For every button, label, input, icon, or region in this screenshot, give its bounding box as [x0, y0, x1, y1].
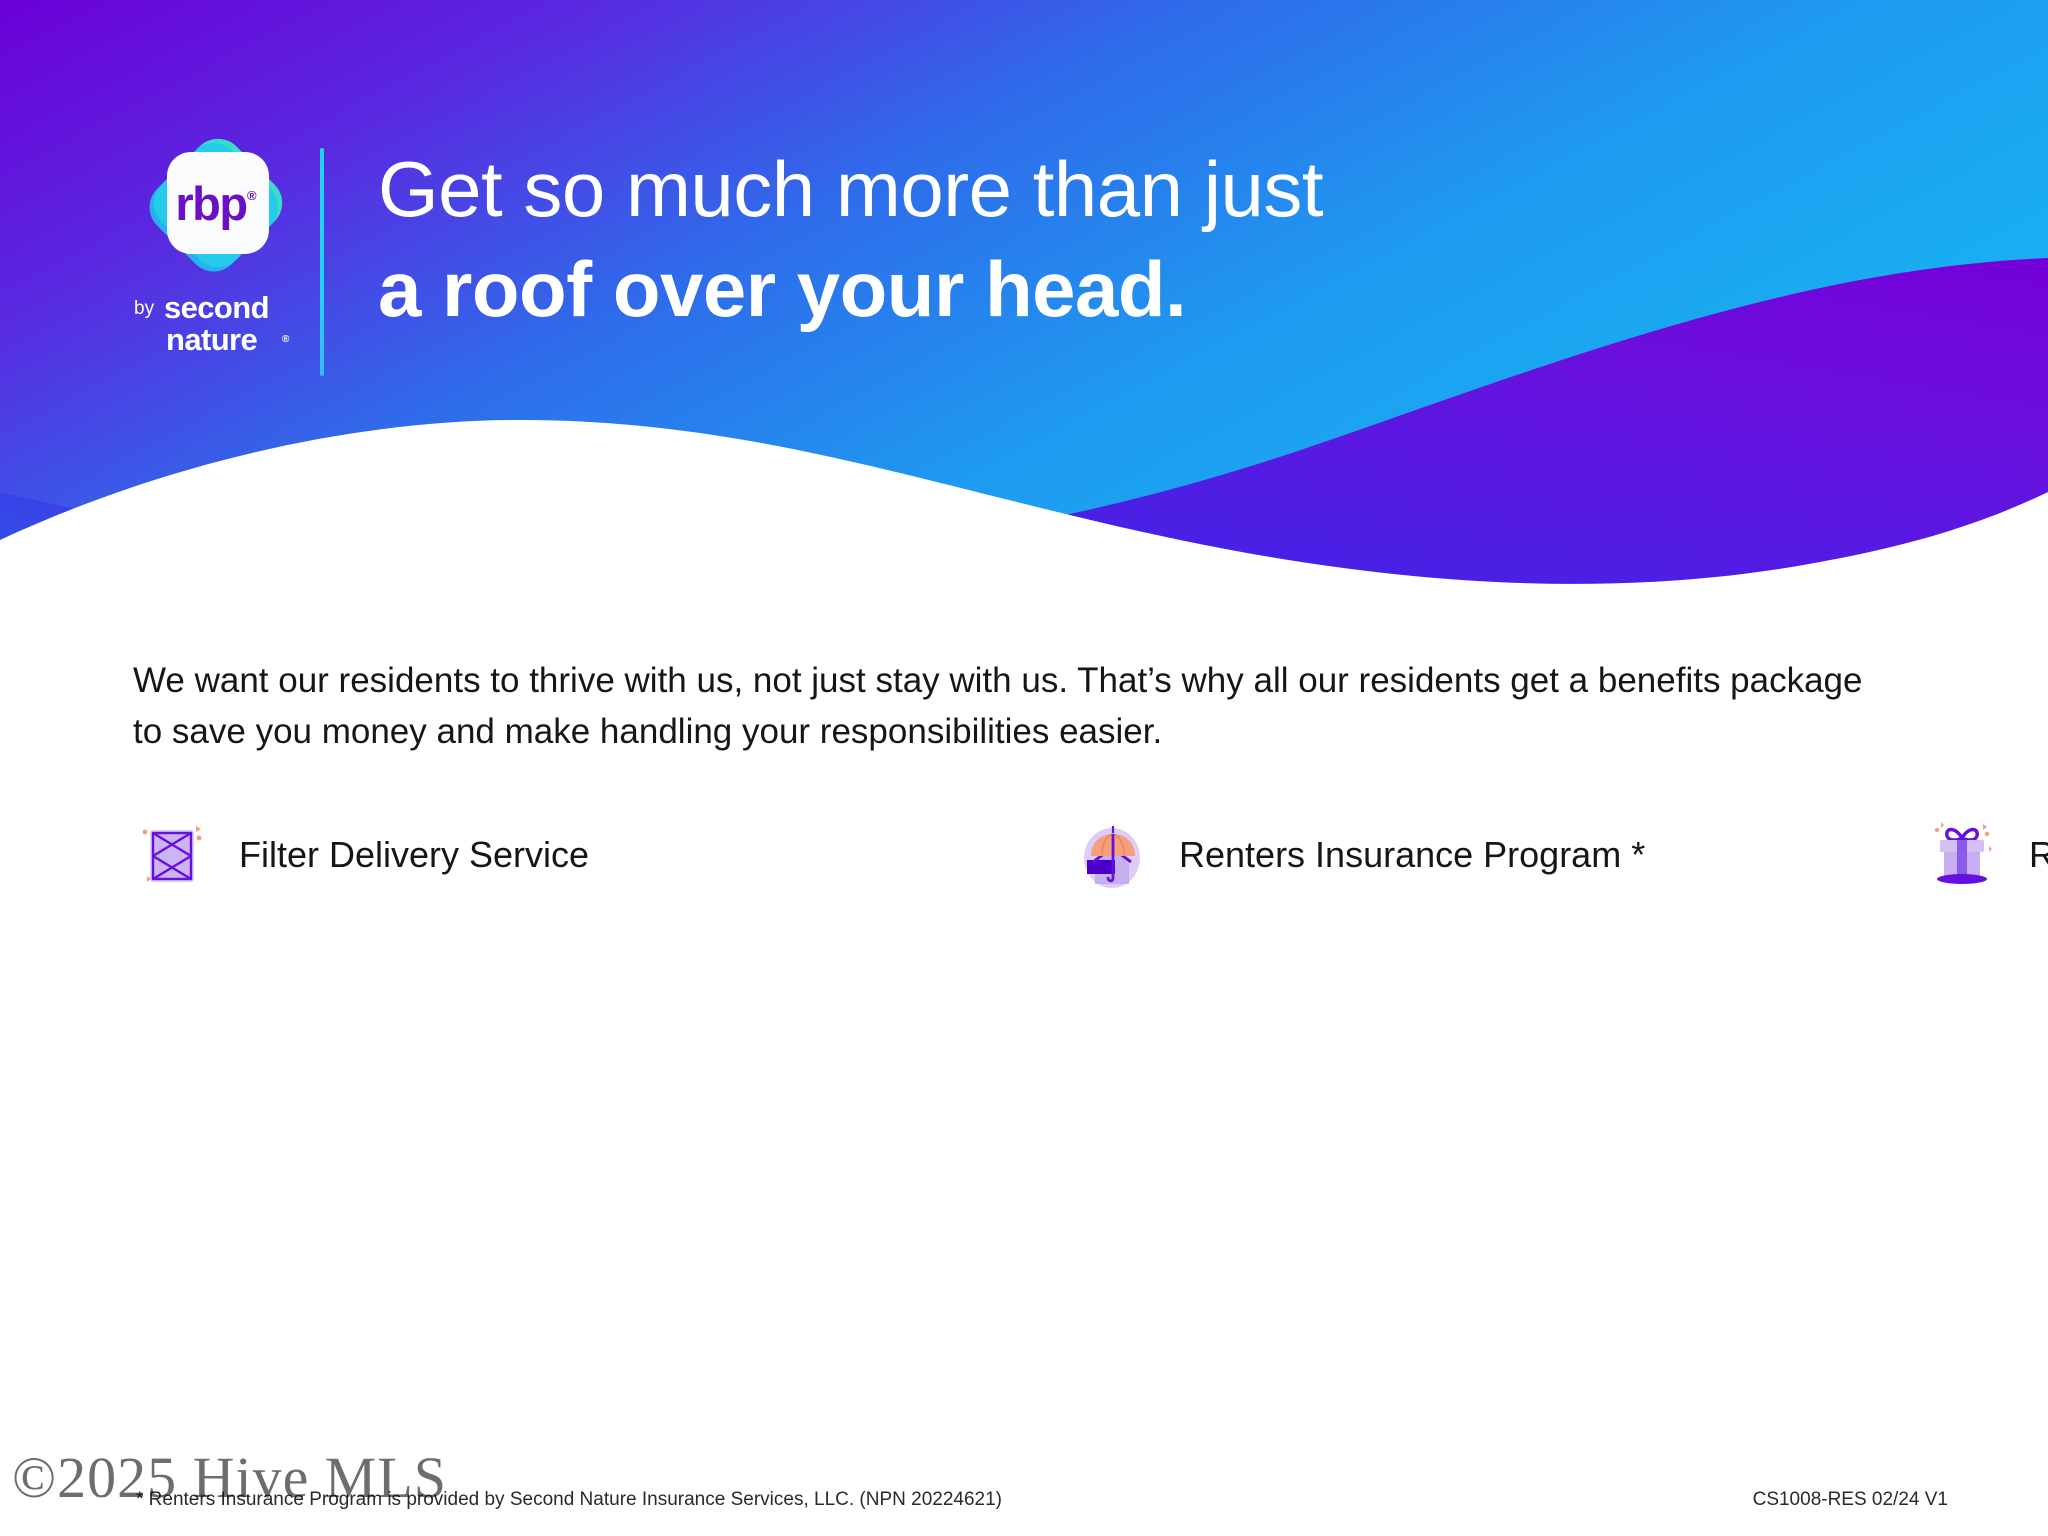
- svg-text:nature: nature: [166, 322, 258, 357]
- benefit-label: Renters Insurance Program *: [1179, 834, 1645, 876]
- benefit-item-renters-insurance-program: Renters Insurance Program *: [1073, 800, 1923, 909]
- intro-paragraph: We want our residents to thrive with us,…: [133, 655, 1893, 757]
- svg-text:second: second: [164, 290, 269, 325]
- page-headline: Get so much more than just a roof over y…: [378, 150, 1558, 329]
- by-second-nature-wordmark: by second nature ®: [128, 288, 308, 362]
- document-code: CS1008-RES 02/24 V1: [1753, 1489, 1948, 1511]
- rbp-logo-mark-icon: rbp ®: [143, 128, 293, 278]
- gift-box-icon: [1923, 816, 2001, 894]
- benefit-item-filter-delivery-service: Filter Delivery Service: [133, 800, 1073, 909]
- header-vertical-divider: [320, 148, 324, 376]
- benefit-item-resident-rewards-program: Resident Rewards Program: [1923, 800, 2048, 909]
- svg-text:®: ®: [247, 188, 257, 203]
- brand-logo-lockup: rbp ® by second nature ®: [118, 128, 318, 368]
- svg-text:®: ®: [282, 334, 290, 345]
- benefit-label: Resident Rewards Program: [2029, 834, 2048, 876]
- svg-text:rbp: rbp: [175, 177, 246, 230]
- umbrella-home-icon: [1073, 816, 1151, 894]
- air-filter-icon: [133, 816, 211, 894]
- benefit-label: Filter Delivery Service: [239, 834, 589, 876]
- benefits-list: Filter Delivery Service Renters Insuranc…: [133, 800, 1923, 909]
- headline-line-2: a roof over your head.: [378, 250, 1558, 330]
- svg-text:by: by: [134, 298, 155, 319]
- mls-watermark: ©2025 Hive MLS: [12, 1444, 447, 1511]
- headline-line-1: Get so much more than just: [378, 150, 1558, 230]
